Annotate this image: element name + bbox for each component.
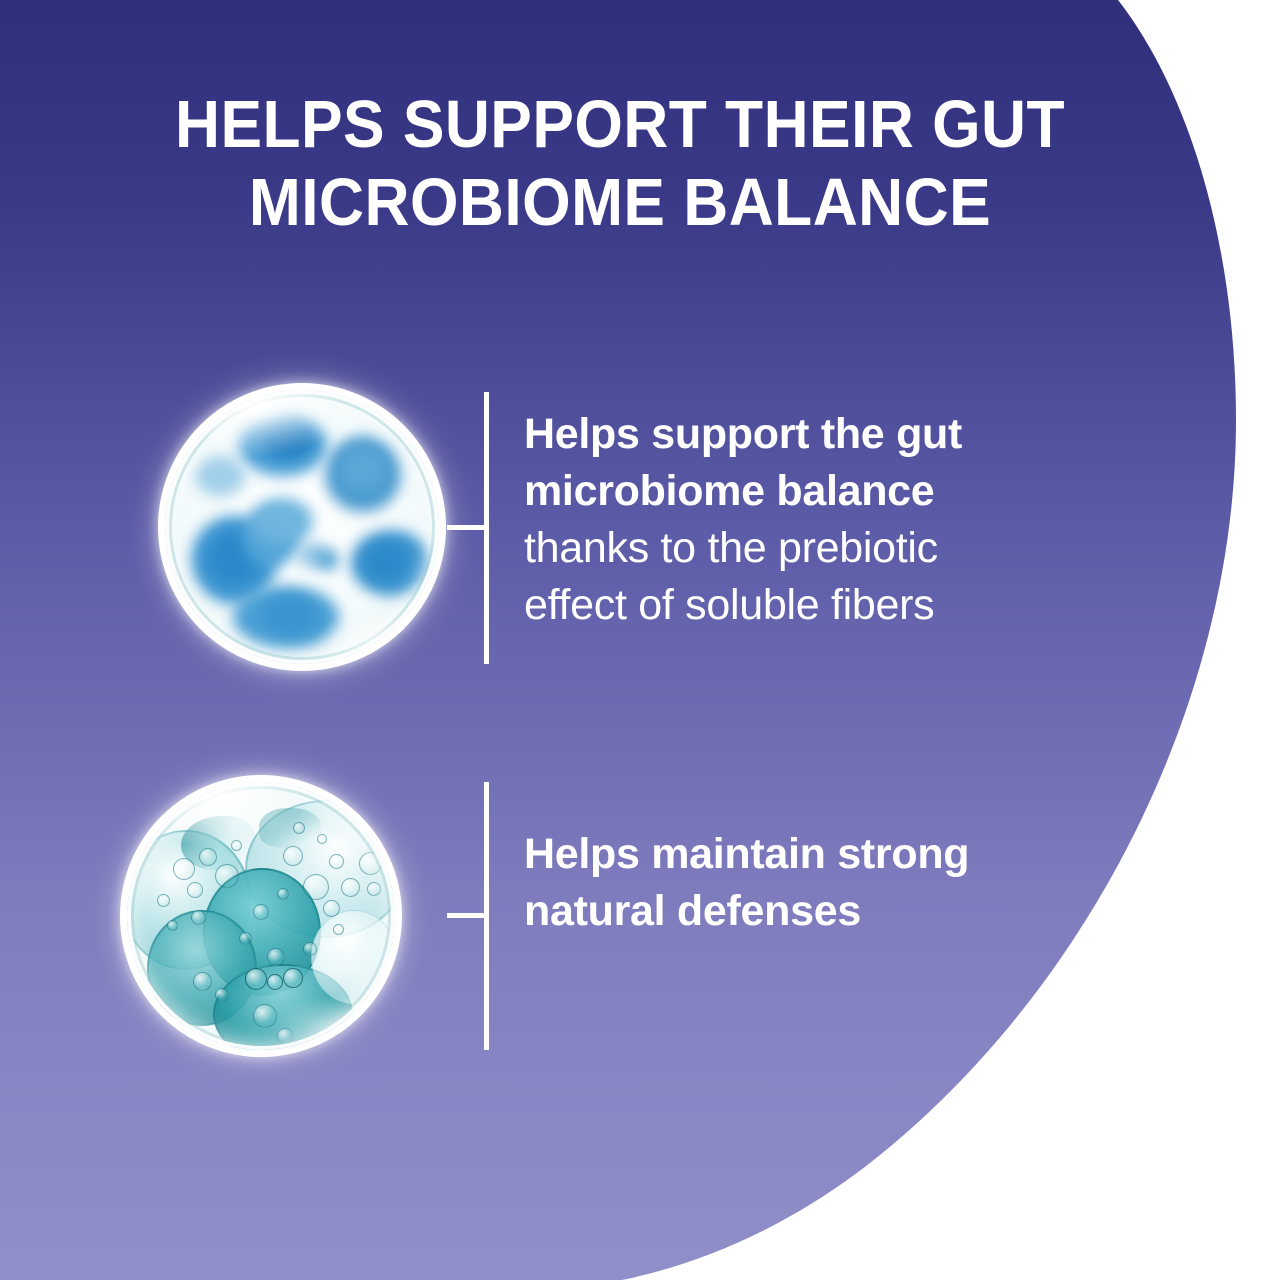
- benefit-text-1: Helps support the gut microbiome balance…: [524, 406, 1044, 634]
- infographic-canvas: HELPS SUPPORT THEIR GUT MICROBIOME BALAN…: [0, 0, 1280, 1280]
- petri-dish-teal-gel-bubbles: [127, 782, 395, 1050]
- benefit-1-regular: thanks to the prebiotic effect of solubl…: [524, 524, 938, 629]
- page-title: HELPS SUPPORT THEIR GUT MICROBIOME BALAN…: [43, 86, 1196, 242]
- petri-dish-bacteria-colonies: [165, 390, 439, 664]
- benefit-2-bold: Helps maintain strong natural defenses: [524, 830, 969, 935]
- benefit-1-bold: Helps support the gut microbiome balance: [524, 410, 962, 515]
- benefit-text-2: Helps maintain strong natural defenses: [524, 826, 1004, 940]
